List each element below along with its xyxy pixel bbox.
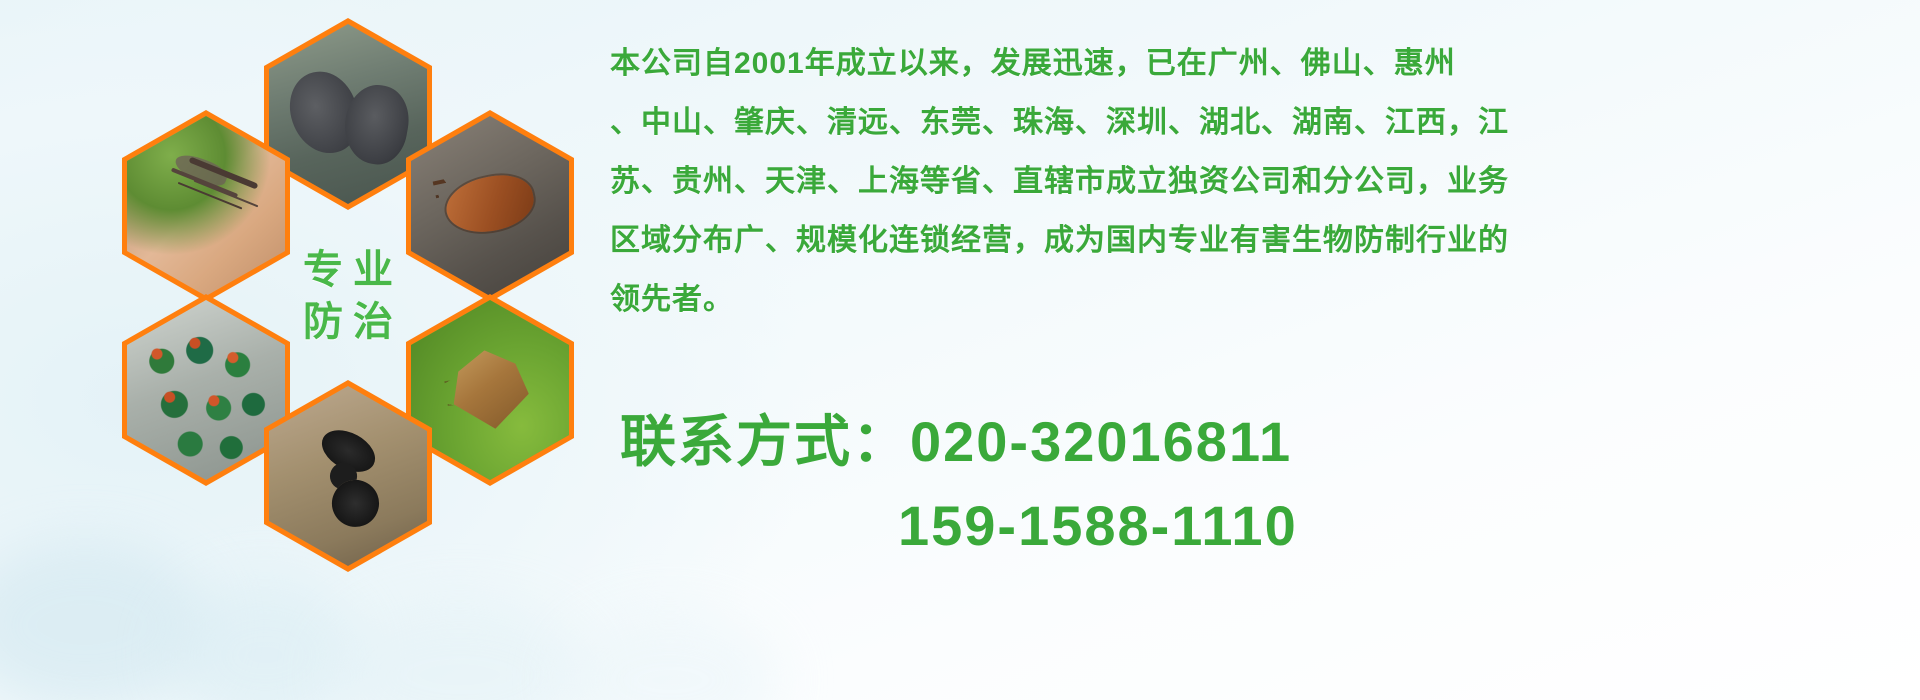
hexagon-photo-cluster: 专业 防治 [96, 10, 596, 570]
flies-photo [127, 300, 285, 480]
contact-primary-line[interactable]: 联系方式：020-32016811 [620, 400, 1910, 484]
hex-photo-shield-bug-frame [411, 300, 569, 480]
logo-slogan: 专业 防治 [264, 200, 432, 392]
promo-banner: 专业 防治 本公司自2001年成立以来，发展迅速，已在广州、佛山、惠州 、中山、… [0, 0, 1920, 700]
contact-secondary-line[interactable]: 159-1588-1110 [620, 484, 1910, 568]
hex-photo-rats-frame [269, 24, 427, 204]
intro-text-block: 本公司自2001年成立以来，发展迅速，已在广州、佛山、惠州 、中山、肇庆、清远、… [610, 34, 1900, 329]
hex-photo-ant-frame [269, 386, 427, 566]
mosquito-photo [127, 116, 285, 296]
cockroach-photo [411, 116, 569, 296]
background-bokeh-3 [330, 600, 590, 700]
hex-photo-flies-frame [127, 300, 285, 480]
ant-photo [269, 386, 427, 566]
logo-slogan-line1: 专业 [293, 250, 403, 290]
rats-photo [269, 24, 427, 204]
background-bokeh-4 [560, 610, 780, 700]
contact-block: 联系方式：020-32016811 159-1588-1110 [620, 400, 1910, 568]
hex-photo-mosquito-frame [127, 116, 285, 296]
hex-photo-cockroach-frame [411, 116, 569, 296]
shield-bug-photo [411, 300, 569, 480]
company-intro-paragraph: 本公司自2001年成立以来，发展迅速，已在广州、佛山、惠州 、中山、肇庆、清远、… [610, 34, 1900, 329]
logo-slogan-line2: 防治 [293, 302, 403, 342]
